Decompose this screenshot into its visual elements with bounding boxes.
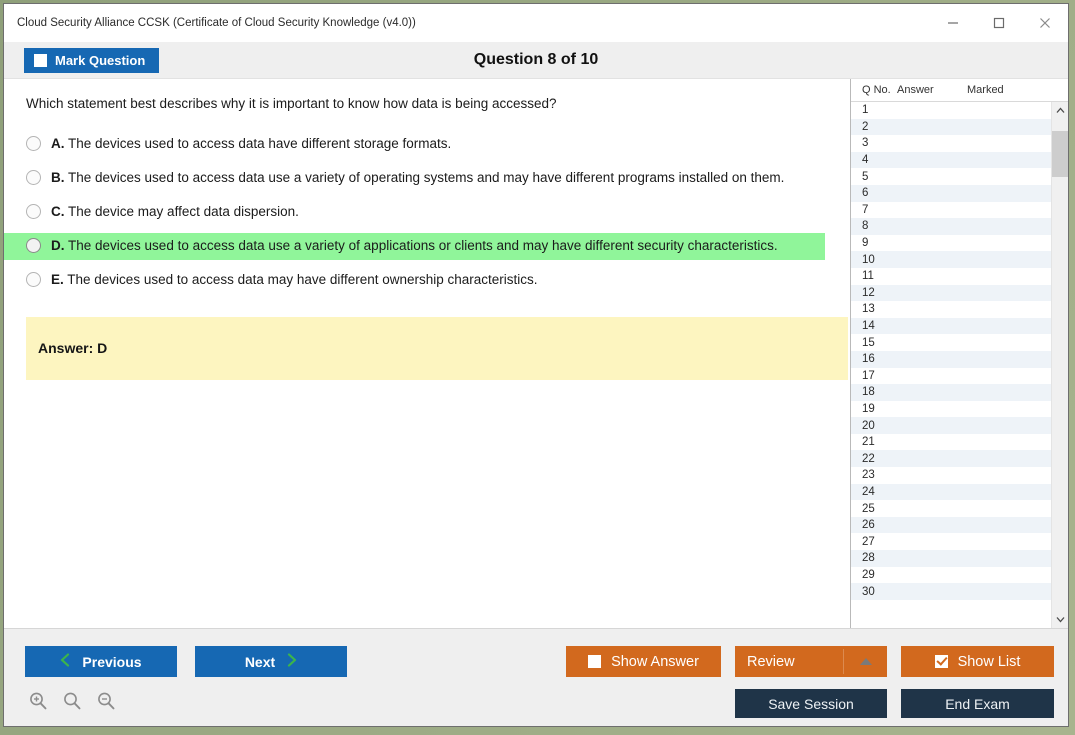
zoom-in-icon[interactable] xyxy=(26,689,50,713)
scroll-down-arrow-icon[interactable] xyxy=(1052,611,1069,628)
choice-letter: E. xyxy=(51,272,64,287)
show-answer-label: Show Answer xyxy=(611,654,699,670)
question-list-row[interactable]: 4 xyxy=(851,152,1051,169)
question-list-rows: 1234567891011121314151617181920212223242… xyxy=(851,102,1051,628)
show-answer-checkbox-icon[interactable] xyxy=(588,655,601,668)
question-list-row[interactable]: 19 xyxy=(851,401,1051,418)
chevron-right-icon xyxy=(287,653,297,670)
review-label: Review xyxy=(747,654,795,670)
question-list-row[interactable]: 9 xyxy=(851,235,1051,252)
exam-body: Which statement best describes why it is… xyxy=(4,79,1068,628)
row-question-number: 25 xyxy=(851,503,897,515)
row-question-number: 20 xyxy=(851,420,897,432)
choice-radio-icon[interactable] xyxy=(26,136,41,151)
row-question-number: 12 xyxy=(851,287,897,299)
question-list-row[interactable]: 10 xyxy=(851,251,1051,268)
zoom-reset-icon[interactable] xyxy=(60,689,84,713)
choice-body: The devices used to access data may have… xyxy=(67,272,537,287)
review-dropdown-button[interactable]: Review xyxy=(735,646,887,677)
question-list-row[interactable]: 14 xyxy=(851,318,1051,335)
review-split-divider xyxy=(843,649,844,674)
question-list-row[interactable]: 21 xyxy=(851,434,1051,451)
footer-toolbar: Previous Next Show Answer Review Show Li… xyxy=(4,628,1068,726)
choice-body: The devices used to access data have dif… xyxy=(68,136,451,151)
question-list-scrollbar[interactable] xyxy=(1051,102,1068,628)
question-list-row[interactable]: 2 xyxy=(851,119,1051,136)
zoom-out-icon[interactable] xyxy=(94,689,118,713)
question-list-row[interactable]: 12 xyxy=(851,285,1051,302)
question-list-row[interactable]: 29 xyxy=(851,567,1051,584)
row-question-number: 14 xyxy=(851,320,897,332)
close-icon[interactable] xyxy=(1022,4,1068,41)
choice-letter: A. xyxy=(51,136,65,151)
previous-button-label: Previous xyxy=(82,654,141,670)
row-question-number: 1 xyxy=(851,104,897,116)
question-list-row[interactable]: 23 xyxy=(851,467,1051,484)
column-header-marked: Marked xyxy=(967,84,1037,96)
question-list-row[interactable]: 1 xyxy=(851,102,1051,119)
end-exam-label: End Exam xyxy=(945,696,1010,712)
question-stem: Which statement best describes why it is… xyxy=(4,95,850,113)
row-question-number: 6 xyxy=(851,187,897,199)
row-question-number: 29 xyxy=(851,569,897,581)
show-answer-button[interactable]: Show Answer xyxy=(566,646,721,677)
row-question-number: 11 xyxy=(851,270,897,282)
choice-text: D. The devices used to access data use a… xyxy=(51,237,778,256)
row-question-number: 30 xyxy=(851,586,897,598)
choice-letter: D. xyxy=(51,238,65,253)
question-list-row[interactable]: 16 xyxy=(851,351,1051,368)
choice-letter: C. xyxy=(51,204,65,219)
question-list-row[interactable]: 24 xyxy=(851,484,1051,501)
question-list-row[interactable]: 6 xyxy=(851,185,1051,202)
row-question-number: 3 xyxy=(851,137,897,149)
column-header-qno: Q No. xyxy=(851,84,897,96)
question-list-row[interactable]: 27 xyxy=(851,533,1051,550)
row-question-number: 15 xyxy=(851,337,897,349)
question-list-row[interactable]: 25 xyxy=(851,500,1051,517)
row-question-number: 22 xyxy=(851,453,897,465)
answer-reveal-box: Answer: D xyxy=(26,317,848,380)
row-question-number: 17 xyxy=(851,370,897,382)
question-list-row[interactable]: 15 xyxy=(851,334,1051,351)
row-question-number: 2 xyxy=(851,121,897,133)
zoom-toolbar xyxy=(26,689,118,713)
previous-button[interactable]: Previous xyxy=(25,646,177,677)
row-question-number: 28 xyxy=(851,552,897,564)
question-counter: Question 8 of 10 xyxy=(4,51,1068,69)
question-list-row[interactable]: 11 xyxy=(851,268,1051,285)
mark-question-checkbox-icon[interactable] xyxy=(34,54,47,67)
row-question-number: 27 xyxy=(851,536,897,548)
row-question-number: 4 xyxy=(851,154,897,166)
question-list-row[interactable]: 8 xyxy=(851,218,1051,235)
chevron-left-icon xyxy=(60,653,70,670)
next-button[interactable]: Next xyxy=(195,646,347,677)
window-title: Cloud Security Alliance CCSK (Certificat… xyxy=(4,17,416,29)
choice-option-d[interactable]: D. The devices used to access data use a… xyxy=(4,233,825,260)
mark-question-button[interactable]: Mark Question xyxy=(24,48,159,73)
row-question-number: 13 xyxy=(851,303,897,315)
row-question-number: 8 xyxy=(851,220,897,232)
row-question-number: 9 xyxy=(851,237,897,249)
minimize-icon[interactable] xyxy=(930,4,976,41)
question-list-row[interactable]: 28 xyxy=(851,550,1051,567)
row-question-number: 10 xyxy=(851,254,897,266)
question-list-row[interactable]: 20 xyxy=(851,417,1051,434)
column-header-answer: Answer xyxy=(897,84,967,96)
window-titlebar: Cloud Security Alliance CCSK (Certificat… xyxy=(4,4,1068,42)
row-question-number: 26 xyxy=(851,519,897,531)
question-list-row[interactable]: 7 xyxy=(851,202,1051,219)
question-header-bar: Mark Question Question 8 of 10 xyxy=(4,42,1068,79)
row-question-number: 19 xyxy=(851,403,897,415)
choice-body: The devices used to access data use a va… xyxy=(68,170,784,185)
choice-option-e[interactable]: E. The devices used to access data may h… xyxy=(4,267,850,294)
row-question-number: 21 xyxy=(851,436,897,448)
choice-text: B. The devices used to access data use a… xyxy=(51,169,784,188)
question-list-row[interactable]: 18 xyxy=(851,384,1051,401)
choice-option-c[interactable]: C. The device may affect data dispersion… xyxy=(4,199,850,226)
question-list-row[interactable]: 3 xyxy=(851,135,1051,152)
choice-radio-icon[interactable] xyxy=(26,204,41,219)
question-list-scroll-area: 1234567891011121314151617181920212223242… xyxy=(851,102,1068,628)
window-controls xyxy=(930,4,1068,41)
answer-text: Answer: D xyxy=(38,340,107,356)
row-question-number: 18 xyxy=(851,386,897,398)
scrollbar-thumb[interactable] xyxy=(1052,131,1068,177)
choice-letter: B. xyxy=(51,170,65,185)
question-pane: Which statement best describes why it is… xyxy=(4,79,850,628)
scroll-up-arrow-icon[interactable] xyxy=(1052,102,1069,119)
save-session-button[interactable]: Save Session xyxy=(735,689,887,718)
choice-text: E. The devices used to access data may h… xyxy=(51,271,538,290)
question-list-row[interactable]: 17 xyxy=(851,368,1051,385)
choice-option-b[interactable]: B. The devices used to access data use a… xyxy=(4,165,850,192)
choice-option-a[interactable]: A. The devices used to access data have … xyxy=(4,131,850,158)
choice-text: C. The device may affect data dispersion… xyxy=(51,203,299,222)
choice-radio-icon[interactable] xyxy=(26,238,41,253)
row-question-number: 16 xyxy=(851,353,897,365)
question-list-header: Q No. Answer Marked xyxy=(851,79,1068,102)
choice-radio-icon[interactable] xyxy=(26,170,41,185)
question-list-row[interactable]: 22 xyxy=(851,450,1051,467)
question-list-row[interactable]: 30 xyxy=(851,583,1051,600)
end-exam-button[interactable]: End Exam xyxy=(901,689,1054,718)
exam-window: Cloud Security Alliance CCSK (Certificat… xyxy=(3,3,1069,727)
show-list-checkbox-icon[interactable] xyxy=(935,655,948,668)
save-session-label: Save Session xyxy=(768,696,854,712)
choice-body: The device may affect data dispersion. xyxy=(68,204,299,219)
row-question-number: 7 xyxy=(851,204,897,216)
row-question-number: 23 xyxy=(851,469,897,481)
chevron-up-icon[interactable] xyxy=(859,654,873,670)
next-button-label: Next xyxy=(245,654,275,670)
maximize-icon[interactable] xyxy=(976,4,1022,41)
scrollbar-track[interactable] xyxy=(1052,119,1068,611)
choice-radio-icon[interactable] xyxy=(26,272,41,287)
choice-text: A. The devices used to access data have … xyxy=(51,135,451,154)
choice-list: A. The devices used to access data have … xyxy=(4,131,850,293)
question-list-panel: Q No. Answer Marked 12345678910111213141… xyxy=(850,79,1068,628)
show-list-button[interactable]: Show List xyxy=(901,646,1054,677)
row-question-number: 5 xyxy=(851,171,897,183)
row-question-number: 24 xyxy=(851,486,897,498)
question-list-row[interactable]: 26 xyxy=(851,517,1051,534)
choice-body: The devices used to access data use a va… xyxy=(68,238,778,253)
show-list-label: Show List xyxy=(958,654,1021,670)
question-list-row[interactable]: 13 xyxy=(851,301,1051,318)
mark-question-label: Mark Question xyxy=(55,53,145,68)
question-list-row[interactable]: 5 xyxy=(851,168,1051,185)
